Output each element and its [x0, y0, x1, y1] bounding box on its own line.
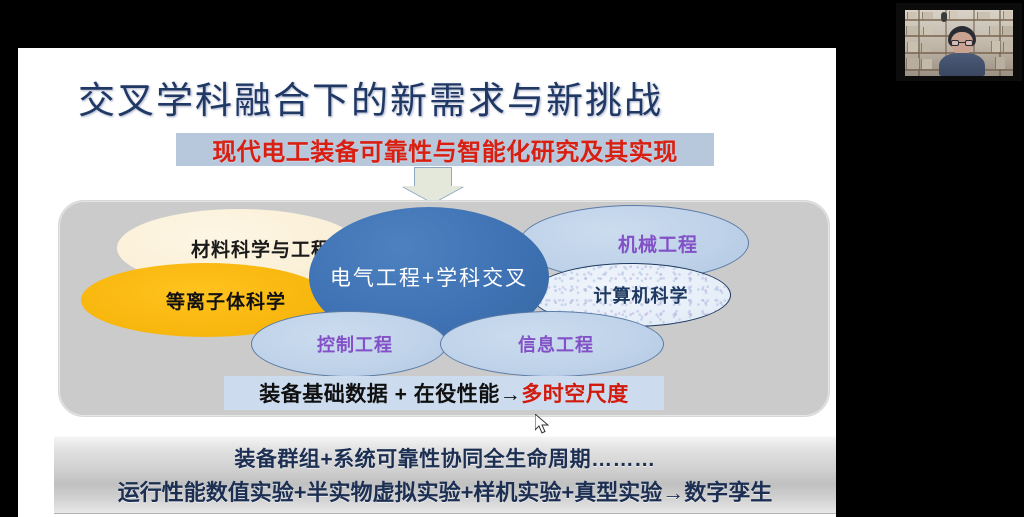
shelf-lamp [941, 12, 947, 22]
formula-strip: 装备基础数据 + 在役性能→ 多时空尺度 [224, 376, 664, 410]
arrow-stem [414, 167, 452, 187]
ellipse-label-computer-science: 计算机科学 [594, 282, 689, 308]
presenter-avatar [939, 26, 985, 76]
ellipse-label-plasma-science: 等离子体科学 [166, 287, 286, 314]
mouse-cursor-icon [535, 414, 549, 434]
screen-share-view: 交叉学科融合下的新需求与新挑战 现代电工装备可靠性与智能化研究及其实现 材料科学… [0, 0, 1024, 517]
presenter-video-thumbnail[interactable] [896, 3, 1022, 81]
shelf-item [995, 57, 1005, 69]
presentation-slide: 交叉学科融合下的新需求与新挑战 现代电工装备可靠性与智能化研究及其实现 材料科学… [18, 48, 836, 517]
glasses-lens-right [965, 40, 973, 46]
highlight-banner: 现代电工装备可靠性与智能化研究及其实现 [176, 133, 714, 166]
shelf-item [989, 26, 999, 35]
shelf-item [907, 42, 918, 52]
torso-shape [939, 53, 985, 76]
shelf-item [977, 12, 990, 19]
ellipse-control-engineering: 控制工程 [251, 311, 447, 377]
shelf-item [923, 27, 933, 35]
ellipse-label-control-engineering: 控制工程 [317, 331, 393, 357]
ellipse-label-mechanical-engineering: 机械工程 [618, 230, 698, 257]
shelf-item [906, 26, 918, 35]
shelf-item [921, 59, 932, 69]
shelf-item [1003, 42, 1013, 52]
shelf-item [922, 12, 933, 19]
glasses-lens-left [951, 40, 959, 46]
summary-box: 装备群组+系统可靠性协同全生命周期……… 运行性能数值实验+半实物虚拟实验+样机… [54, 436, 836, 514]
video-frame [905, 10, 1013, 76]
ellipse-label-information-engineering: 信息工程 [518, 331, 594, 357]
shelf-item [991, 41, 1000, 52]
shelf-item [907, 12, 917, 19]
summary-line-1: 装备群组+系统可靠性协同全生命周期……… [234, 443, 655, 473]
shelf-item [949, 11, 958, 19]
formula-red-text: 多时空尺度 [521, 378, 629, 408]
ellipse-information-engineering: 信息工程 [440, 311, 664, 377]
page-title: 交叉学科融合下的新需求与新挑战 [78, 70, 663, 124]
formula-dark-text: 装备基础数据 + 在役性能→ [259, 378, 521, 408]
summary-line-2: 运行性能数值实验+半实物虚拟实验+样机实验+真型实验→数字孪生 [118, 475, 773, 507]
glasses-icon [951, 40, 973, 46]
discipline-venn-panel: 材料科学与工程 等离子体科学 机械工程 计算机科学 电气工程+学科交叉 控制工程… [58, 200, 830, 417]
highlight-banner-text: 现代电工装备可靠性与智能化研究及其实现 [212, 132, 678, 167]
shelf-item [921, 43, 931, 52]
shelf-item [1003, 11, 1012, 19]
ellipse-label-electrical-engineering-crossover: 电气工程+学科交叉 [330, 262, 528, 292]
shelf-item [1002, 26, 1013, 35]
down-arrow-icon [402, 167, 464, 203]
ellipse-label-material-science: 材料科学与工程 [191, 235, 331, 262]
shelf-item [906, 58, 919, 69]
